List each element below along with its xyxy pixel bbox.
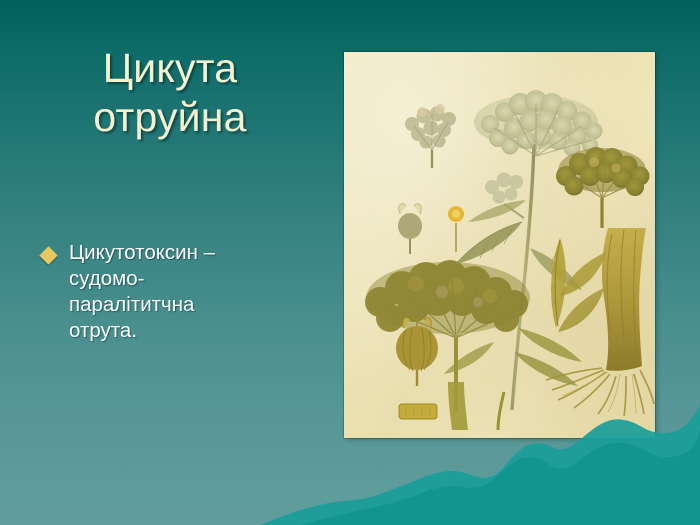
diamond-bullet-icon [39,246,57,264]
body-placeholder: Цикутотоксин – судомо- паралітитчна отру… [42,240,324,344]
stem-base [448,382,504,430]
umbel-small-left [405,104,456,168]
umbel-olive-right [556,147,650,228]
section-detail [399,404,437,419]
botanical-plate-drawing [344,52,655,438]
umbel-large [474,90,603,157]
page-title: Цикута отруйна [14,44,326,142]
illustration-image [344,52,655,438]
presentation-slide: Цикута отруйна Цикутотоксин – судомо- па… [0,0,700,525]
title-placeholder: Цикута отруйна [14,44,326,142]
lanceolate-leaf [551,238,566,328]
flower-detail-sketches [398,204,464,254]
umbel-bushy-left [365,260,530,412]
bullet-text: Цикутотоксин – судомо- паралітитчна отру… [69,240,324,344]
list-item: Цикутотоксин – судомо- паралітитчна отру… [42,240,324,344]
